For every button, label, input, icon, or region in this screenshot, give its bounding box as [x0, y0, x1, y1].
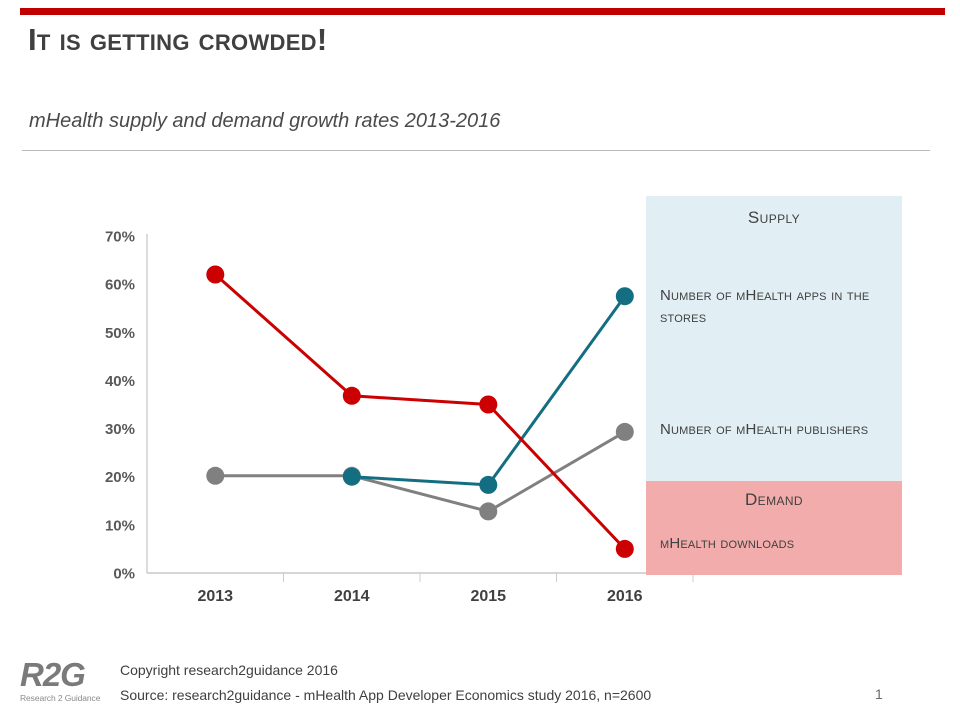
legend-item-apps: Number of mHealth apps in the stores [660, 285, 900, 329]
logo-wordmark: R2G [20, 658, 120, 692]
y-axis-tick-label: 70% [105, 229, 135, 246]
subtitle-divider [22, 150, 930, 151]
series-marker [479, 502, 497, 520]
series-marker [343, 387, 361, 405]
x-axis-tick-label: 2016 [607, 588, 643, 605]
series-line [215, 432, 625, 512]
footer-copyright: Copyright research2guidance 2016 [120, 662, 338, 678]
series-line [352, 296, 625, 485]
y-axis-tick-label: 40% [105, 373, 135, 390]
accent-rule [20, 8, 945, 15]
legend-panel-demand: Demand mHealth downloads [646, 481, 902, 575]
x-axis-tick-label: 2015 [470, 588, 506, 605]
y-axis-tick-label: 60% [105, 277, 135, 294]
y-axis-tick-label: 30% [105, 421, 135, 438]
y-axis-tick-label: 20% [105, 469, 135, 486]
legend-item-publishers: Number of mHealth publishers [660, 419, 900, 441]
series-marker [343, 467, 361, 485]
series-marker [343, 468, 361, 486]
slide-subtitle: mHealth supply and demand growth rates 2… [29, 110, 500, 133]
legend-panel-supply: Supply Number of mHealth apps in the sto… [646, 196, 902, 481]
series-line [215, 275, 625, 549]
series-marker [616, 423, 634, 441]
x-axis-tick-label: 2014 [334, 588, 370, 605]
legend-heading-demand: Demand [646, 490, 902, 510]
page-title: It is getting crowded! [28, 22, 327, 58]
y-axis-tick-label: 0% [113, 566, 135, 583]
series-marker [206, 467, 224, 485]
page-number: 1 [875, 686, 883, 702]
r2g-logo: R2G Research 2 Guidance [20, 658, 120, 712]
y-axis-tick-label: 10% [105, 517, 135, 534]
x-axis-tick-label: 2013 [197, 588, 233, 605]
series-marker [616, 540, 634, 558]
logo-subtitle: Research 2 Guidance [20, 693, 120, 703]
legend-heading-supply: Supply [646, 208, 902, 228]
y-axis-tick-label: 50% [105, 325, 135, 342]
series-marker [479, 476, 497, 494]
legend-item-downloads: mHealth downloads [660, 533, 900, 555]
series-marker [616, 287, 634, 305]
series-marker [206, 266, 224, 284]
footer-source: Source: research2guidance - mHealth App … [120, 687, 651, 703]
series-marker [479, 396, 497, 414]
